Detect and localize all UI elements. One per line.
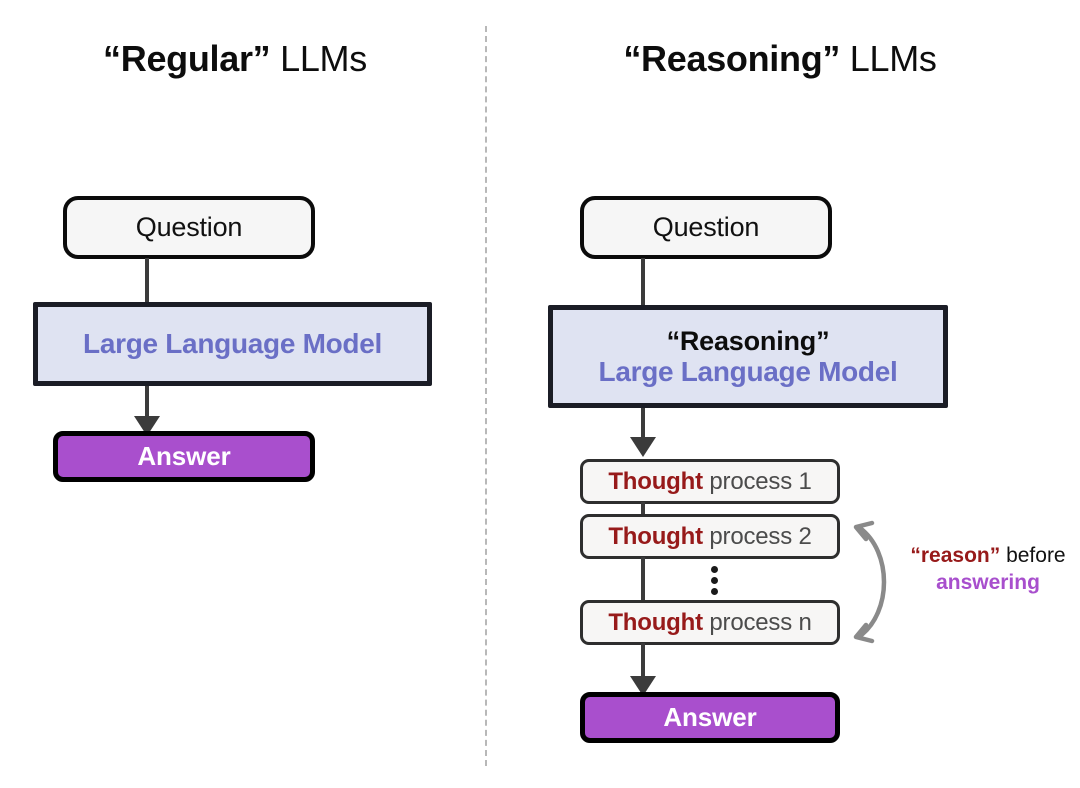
left-llm-label: Large Language Model <box>83 328 382 359</box>
left-question-label: Question <box>136 212 242 243</box>
thought-n-rest: process n <box>703 609 812 636</box>
thought-n-key: Thought <box>608 609 703 636</box>
thought-process-box-2[interactable]: Thought process 2 <box>580 514 840 559</box>
thought-2-key: Thought <box>608 523 703 550</box>
right-connector-llm-to-thought1 <box>641 408 645 440</box>
connector-thought2-to-thoughtn <box>641 557 645 604</box>
title-left-rest: LLMs <box>270 38 367 79</box>
left-answer-box[interactable]: Answer <box>53 431 315 482</box>
right-connector-thoughtn-to-answer <box>641 643 645 679</box>
thought-2-rest: process 2 <box>703 523 812 550</box>
left-question-box[interactable]: Question <box>63 196 315 259</box>
right-question-label: Question <box>653 212 759 243</box>
title-right-rest: LLMs <box>840 38 937 79</box>
right-llm-label: Large Language Model <box>599 356 898 387</box>
thought-process-box-1[interactable]: Thought process 1 <box>580 459 840 504</box>
page-title-reasoning-llms: “Reasoning” LLMs <box>500 38 1060 80</box>
right-question-box[interactable]: Question <box>580 196 832 259</box>
title-left-quoted: “Regular” <box>103 38 270 79</box>
annotation-rest: before <box>1000 544 1065 567</box>
diagram-canvas: “Regular” LLMs “Reasoning” LLMs Question… <box>0 0 1080 788</box>
annotation-quoted-word: “reason” <box>910 544 1000 567</box>
reason-before-answering-annotation: “reason” before answering <box>893 543 1080 597</box>
left-connector-question-to-llm <box>145 258 149 304</box>
right-answer-label: Answer <box>663 702 756 733</box>
right-arrowhead-to-thought1 <box>630 437 656 457</box>
right-llm-prefix: “Reasoning” <box>667 326 830 356</box>
vertical-dashed-divider <box>485 26 487 766</box>
page-title-regular-llms: “Regular” LLMs <box>0 38 470 80</box>
right-connector-question-to-llm <box>641 258 645 307</box>
annotation-line-1: “reason” before <box>893 543 1080 570</box>
left-answer-label: Answer <box>137 441 230 472</box>
right-answer-box[interactable]: Answer <box>580 692 840 743</box>
vertical-ellipsis-icon <box>710 566 718 595</box>
annotation-line-2: answering <box>893 570 1080 597</box>
thought-process-box-n[interactable]: Thought process n <box>580 600 840 645</box>
thought-1-rest: process 1 <box>703 468 812 495</box>
left-llm-box[interactable]: Large Language Model <box>33 302 432 386</box>
right-llm-box[interactable]: “Reasoning” Large Language Model <box>548 305 948 408</box>
thought-1-key: Thought <box>608 468 703 495</box>
title-right-quoted: “Reasoning” <box>623 38 840 79</box>
left-connector-llm-to-answer <box>145 386 149 419</box>
